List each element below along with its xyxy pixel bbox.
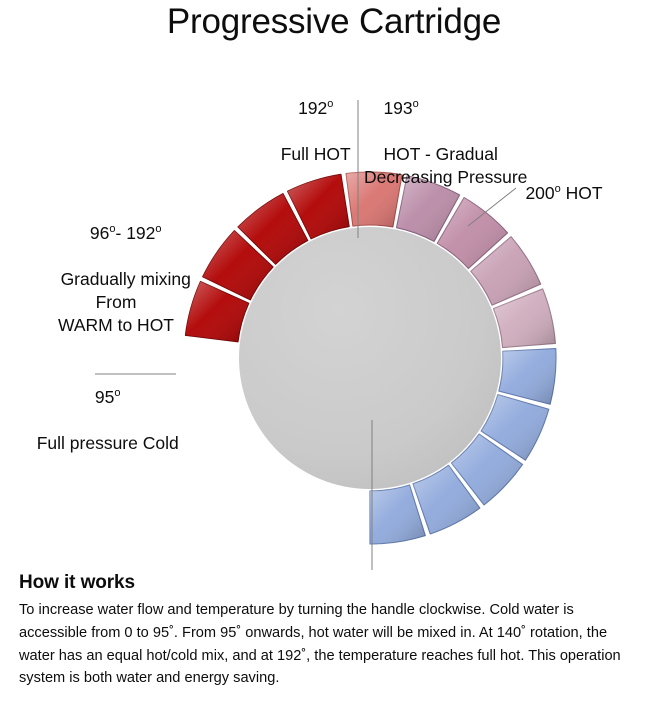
callout-200-degrees: 200o — [525, 183, 560, 203]
how-it-works-heading: How it works — [19, 572, 637, 594]
callout-96-192-gradually-mixing: 96o- 192o Gradually mixingFromWARM to HO… — [26, 199, 206, 361]
callout-95-label: Full pressure Cold — [37, 433, 179, 453]
callout-192-label: Full HOT — [281, 144, 351, 164]
callout-200-label: HOT — [566, 183, 603, 203]
callout-96-192-label: Gradually mixingFromWARM to HOT — [58, 269, 191, 335]
how-it-works-section: How it works To increase water flow and … — [19, 572, 637, 690]
callout-192-degrees: 192o — [298, 98, 333, 118]
callout-192-full-hot: 192o Full HOT — [256, 74, 356, 189]
dial-hub — [239, 227, 501, 489]
callout-200-hot: 200o HOT — [506, 159, 656, 228]
callout-96-192-degrees: 96o- 192o — [90, 223, 162, 243]
callout-193-degrees: 193o — [383, 98, 418, 118]
how-it-works-body: To increase water flow and temperature b… — [19, 599, 637, 690]
callout-95-degrees: 95o — [95, 387, 121, 407]
dial-segment-gloss-4 — [499, 349, 556, 405]
callout-193-label: HOT - GradualDecreasing Pressure — [364, 144, 527, 187]
progressive-cartridge-dial-diagram: 192o Full HOT 193o HOT - GradualDecreasi… — [0, 0, 668, 570]
callout-95-full-pressure-cold: 95o Full pressure Cold — [8, 363, 188, 478]
